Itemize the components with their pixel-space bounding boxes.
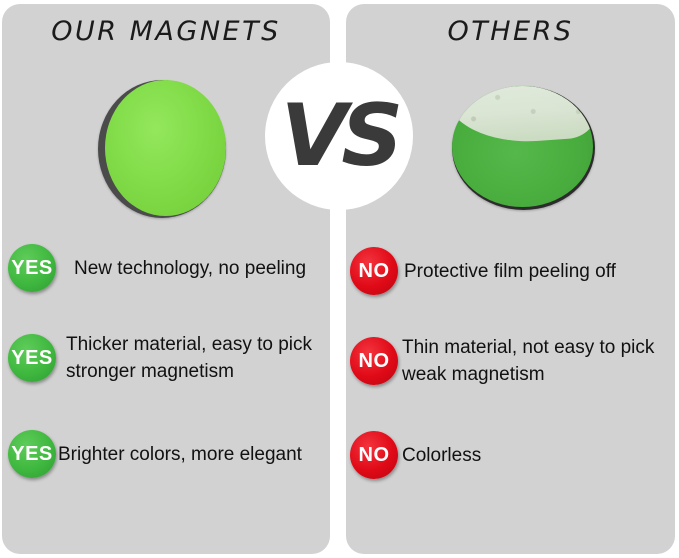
magnet-face xyxy=(105,80,226,216)
comparison-row-other-3: NO Colorless xyxy=(350,431,481,479)
comparison-row-other-2: NO Thin material, not easy to pick weak … xyxy=(350,334,654,388)
peeling-film-magnet-disc-icon xyxy=(452,86,595,210)
comparison-row-text: Thin material, not easy to pick weak mag… xyxy=(402,334,654,388)
magnet-face xyxy=(452,86,593,207)
comparison-row-text: Thicker material, easy to pick stronger … xyxy=(66,331,312,385)
no-badge-icon: NO xyxy=(350,431,398,479)
yes-badge-icon: YES xyxy=(8,244,56,292)
comparison-row-our-1: YES New technology, no peeling xyxy=(8,244,306,292)
no-badge-icon: NO xyxy=(350,337,398,385)
comparison-row-other-1: NO Protective film peeling off xyxy=(350,247,616,295)
green-magnet-disc-icon xyxy=(98,80,226,218)
comparison-row-text: Colorless xyxy=(402,442,481,469)
no-badge-icon: NO xyxy=(350,247,398,295)
vs-label: VS xyxy=(265,62,413,210)
comparison-row-text: Brighter colors, more elegant xyxy=(58,441,302,468)
yes-badge-icon: YES xyxy=(8,334,56,382)
comparison-row-text: Protective film peeling off xyxy=(404,258,616,285)
comparison-row-text: New technology, no peeling xyxy=(74,255,306,282)
panel-title-others: OTHERS xyxy=(346,16,675,47)
peeling-film-overlay xyxy=(452,86,593,147)
panel-title-our-magnets: OUR MAGNETS xyxy=(2,16,330,47)
yes-badge-icon: YES xyxy=(8,430,56,478)
comparison-row-our-2: YES Thicker material, easy to pick stron… xyxy=(8,331,312,385)
comparison-row-our-3: YES Brighter colors, more elegant xyxy=(8,430,302,478)
vs-badge: VS xyxy=(265,62,413,210)
comparison-infographic: OUR MAGNETS YES New technology, no peeli… xyxy=(0,0,679,558)
